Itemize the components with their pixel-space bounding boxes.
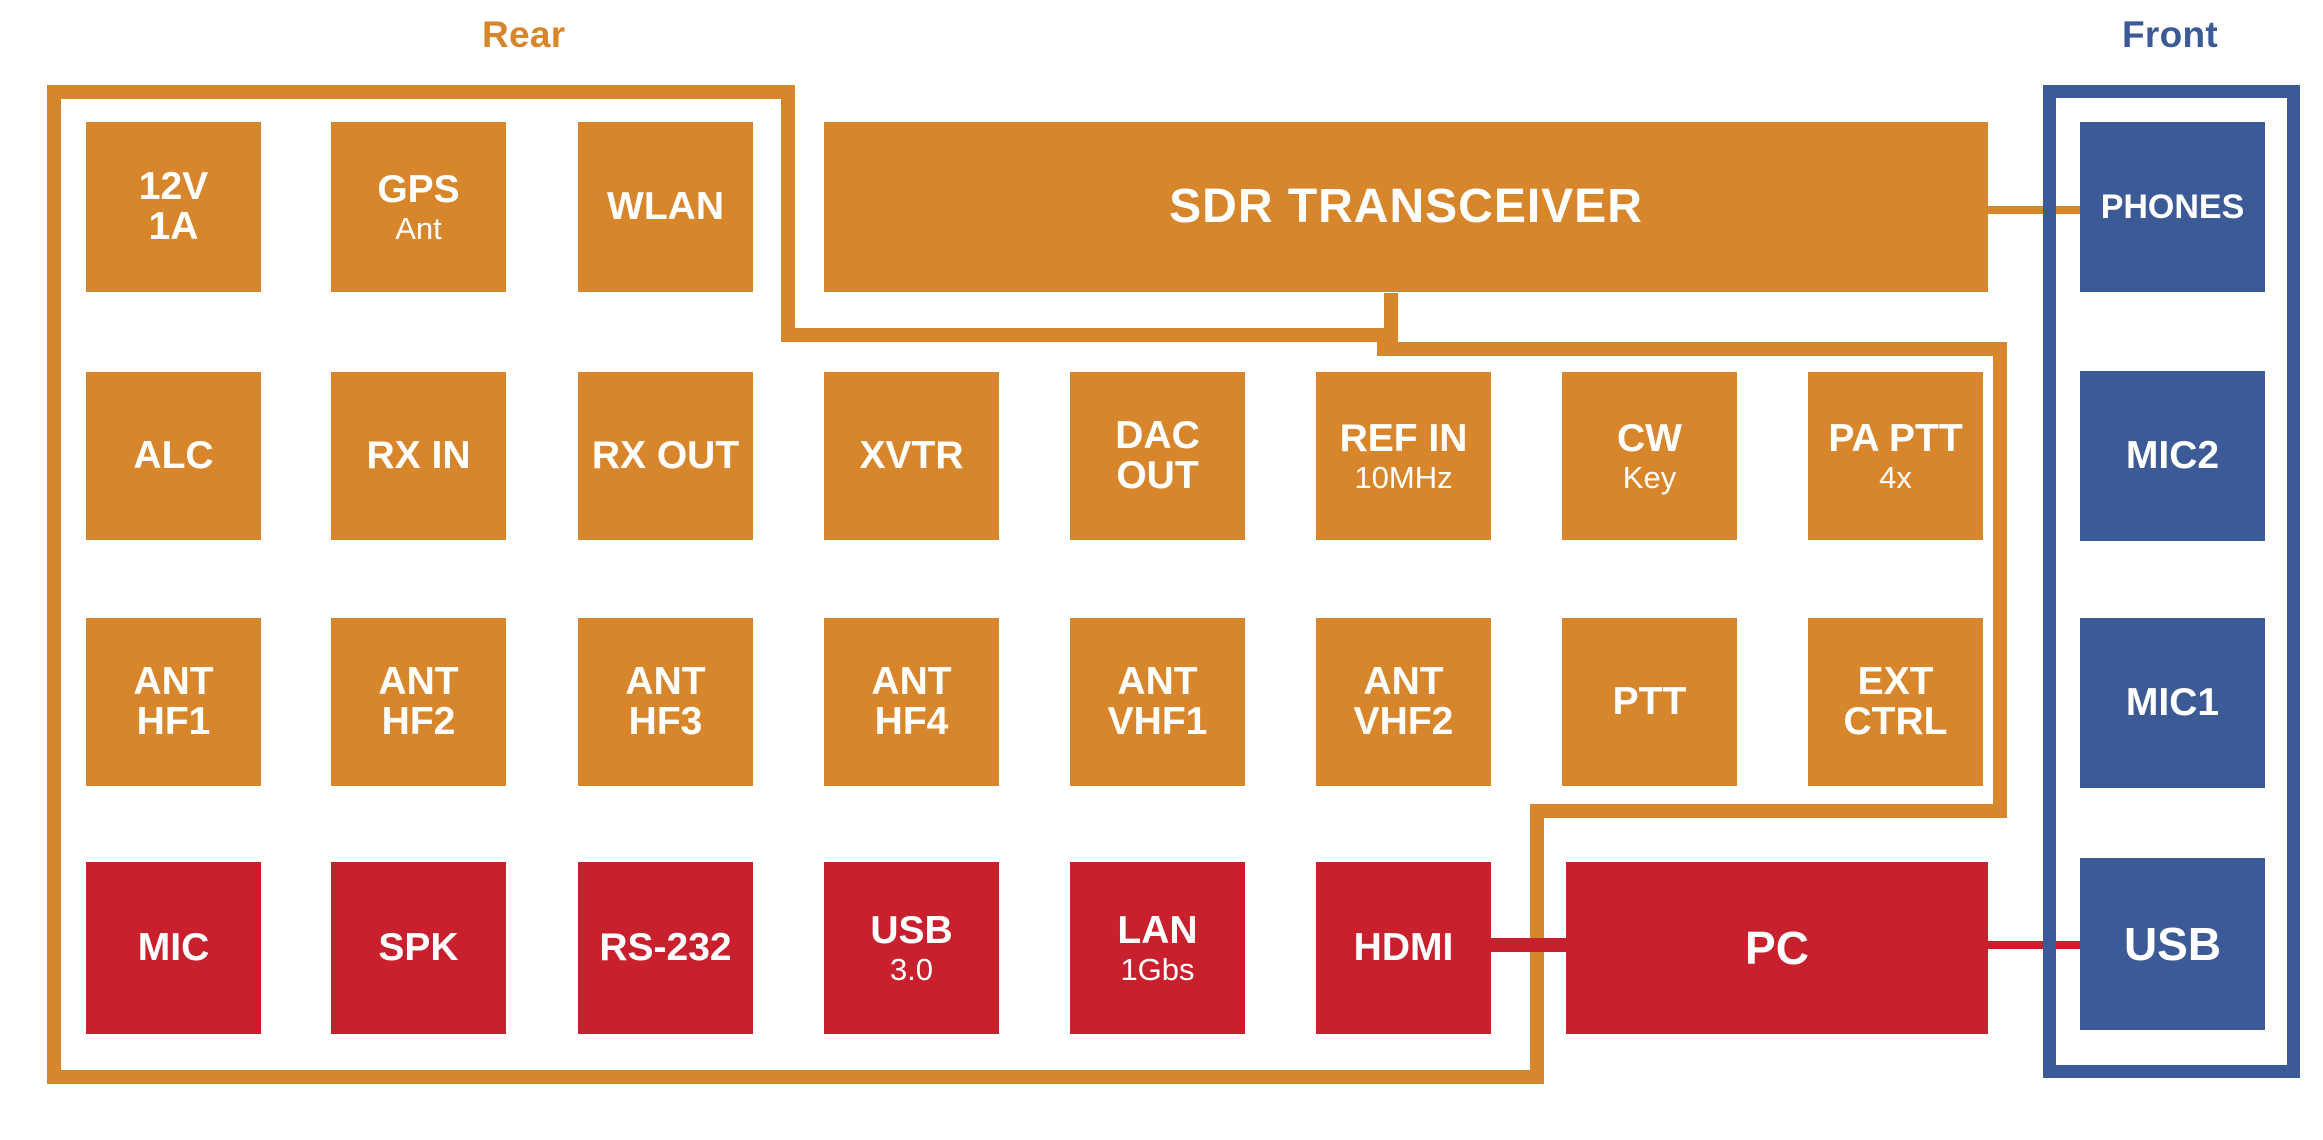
signal-rail-right [1993, 342, 2007, 818]
port-ant-hf2-title: ANT [378, 662, 458, 702]
port-rx-out[interactable]: RX OUT [578, 372, 753, 540]
pc-block-title: PC [1745, 925, 1809, 972]
port-ant-vhf1[interactable]: ANT VHF1 [1070, 618, 1245, 786]
port-rx-in-title: RX IN [366, 436, 470, 476]
port-cw-key[interactable]: CW Key [1562, 372, 1737, 540]
rear-section-label: Rear [482, 14, 565, 56]
transceiver-drop-leg [1384, 293, 1398, 353]
port-usb3-title: USB [870, 911, 952, 951]
chassis-outline-left [47, 85, 61, 1084]
port-ant-hf3-sub: HF3 [629, 702, 703, 742]
port-ant-vhf2[interactable]: ANT VHF2 [1316, 618, 1491, 786]
port-rx-in[interactable]: RX IN [331, 372, 506, 540]
chassis-outline-step-vertical [781, 85, 795, 342]
port-pa-ptt[interactable]: PA PTT 4x [1808, 372, 1983, 540]
port-rs232-title: RS-232 [599, 928, 731, 968]
front-panel-outline-top [2043, 85, 2300, 98]
pc-block[interactable]: PC [1566, 862, 1988, 1034]
signal-rail-bottom [1530, 804, 2007, 818]
port-rs232[interactable]: RS-232 [578, 862, 753, 1034]
port-mic-title: MIC [138, 928, 210, 968]
port-hdmi-title: HDMI [1354, 928, 1454, 968]
front-jack-phones-title: PHONES [2101, 190, 2245, 225]
chassis-outline-bottom [47, 1070, 1544, 1084]
sdr-transceiver-block[interactable]: SDR TRANSCEIVER [824, 122, 1988, 292]
port-ant-hf3[interactable]: ANT HF3 [578, 618, 753, 786]
port-ext-ctrl[interactable]: EXT CTRL [1808, 618, 1983, 786]
port-ant-vhf2-sub: VHF2 [1354, 702, 1454, 742]
port-12v[interactable]: 12V 1A [86, 122, 261, 292]
port-ant-hf2-sub: HF2 [382, 702, 456, 742]
port-dac-out-title: DAC [1115, 416, 1200, 456]
port-ref-in-sub: 10MHz [1354, 462, 1452, 494]
port-alc-title: ALC [133, 436, 213, 476]
port-mic[interactable]: MIC [86, 862, 261, 1034]
port-cw-key-title: CW [1617, 419, 1682, 459]
port-ant-hf2[interactable]: ANT HF2 [331, 618, 506, 786]
port-rx-out-title: RX OUT [592, 436, 739, 476]
port-ant-vhf1-sub: VHF1 [1108, 702, 1208, 742]
port-ant-hf1-sub: HF1 [137, 702, 211, 742]
front-section-label: Front [2122, 14, 2218, 56]
port-ext-ctrl-sub: CTRL [1844, 702, 1948, 742]
port-cw-key-sub: Key [1623, 462, 1676, 494]
link-hdmi-to-pc [1491, 938, 1566, 952]
front-jack-mic1-title: MIC1 [2126, 683, 2219, 723]
block-diagram-canvas: Rear Front 12V 1A GPS Ant WLAN SDR TRANS… [0, 0, 2323, 1140]
port-ant-hf1-title: ANT [133, 662, 213, 702]
port-12v-sub: 1A [149, 207, 199, 247]
port-dac-out-sub: OUT [1116, 456, 1198, 496]
front-jack-usb-title: USB [2124, 921, 2221, 968]
port-ant-hf4[interactable]: ANT HF4 [824, 618, 999, 786]
front-jack-mic1[interactable]: MIC1 [2080, 618, 2265, 788]
port-ant-hf4-title: ANT [871, 662, 951, 702]
port-ext-ctrl-title: EXT [1858, 662, 1934, 702]
port-ant-vhf2-title: ANT [1363, 662, 1443, 702]
port-ant-hf4-sub: HF4 [875, 702, 949, 742]
port-hdmi[interactable]: HDMI [1316, 862, 1491, 1034]
port-xvtr-title: XVTR [859, 436, 963, 476]
port-ant-hf1[interactable]: ANT HF1 [86, 618, 261, 786]
port-usb3[interactable]: USB 3.0 [824, 862, 999, 1034]
port-pa-ptt-sub: 4x [1879, 462, 1912, 494]
port-ref-in-title: REF IN [1340, 419, 1468, 459]
port-lan[interactable]: LAN 1Gbs [1070, 862, 1245, 1034]
sdr-transceiver-title: SDR TRANSCEIVER [1169, 183, 1643, 232]
front-jack-usb[interactable]: USB [2080, 858, 2265, 1030]
port-gps-sub: Ant [395, 213, 442, 245]
port-ant-vhf1-title: ANT [1117, 662, 1197, 702]
port-ref-in[interactable]: REF IN 10MHz [1316, 372, 1491, 540]
port-wlan-title: WLAN [607, 187, 724, 227]
port-usb3-sub: 3.0 [890, 954, 933, 986]
front-jack-mic2[interactable]: MIC2 [2080, 371, 2265, 541]
front-panel-outline-left [2043, 85, 2056, 1078]
port-wlan[interactable]: WLAN [578, 122, 753, 292]
port-lan-title: LAN [1117, 911, 1197, 951]
port-spk-title: SPK [378, 928, 458, 968]
front-panel-outline-bottom [2043, 1065, 2300, 1078]
port-xvtr[interactable]: XVTR [824, 372, 999, 540]
chassis-outline-step-horizontal [781, 328, 1391, 342]
front-panel-outline-right [2287, 85, 2300, 1078]
port-lan-sub: 1Gbs [1120, 954, 1194, 986]
signal-rail-top [1377, 342, 2007, 356]
port-pa-ptt-title: PA PTT [1828, 419, 1962, 459]
front-jack-mic2-title: MIC2 [2126, 436, 2219, 476]
port-ptt-title: PTT [1613, 682, 1687, 722]
port-ptt[interactable]: PTT [1562, 618, 1737, 786]
port-spk[interactable]: SPK [331, 862, 506, 1034]
port-alc[interactable]: ALC [86, 372, 261, 540]
port-gps[interactable]: GPS Ant [331, 122, 506, 292]
front-jack-phones[interactable]: PHONES [2080, 122, 2265, 292]
port-dac-out[interactable]: DAC OUT [1070, 372, 1245, 540]
chassis-outline-top [47, 85, 795, 99]
port-ant-hf3-title: ANT [625, 662, 705, 702]
port-gps-title: GPS [377, 170, 459, 210]
port-12v-title: 12V [139, 167, 208, 207]
